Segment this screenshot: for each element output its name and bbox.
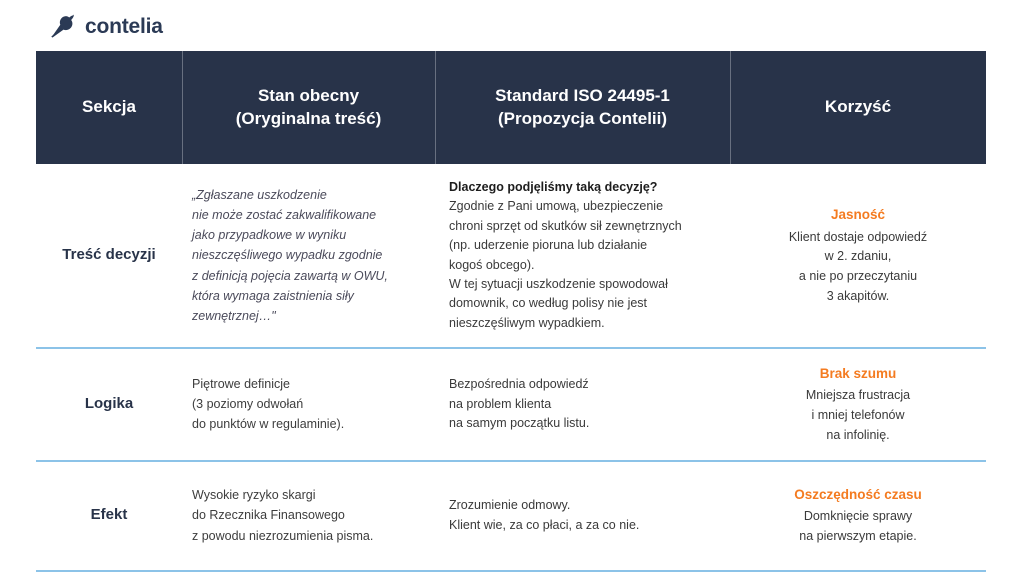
cell-current-state: Piętrowe definicje (3 poziomy odwołań do… <box>182 360 435 449</box>
cell-iso-heading: Dlaczego podjęliśmy taką decyzję? <box>449 178 716 197</box>
brand-logo: contelia <box>50 12 163 40</box>
cell-current-state: „Zgłaszane uszkodzenie nie może zostać z… <box>182 171 435 341</box>
cell-section: Logika <box>36 383 182 426</box>
cell-benefit: Brak szumu Mniejsza frustracja i mniej t… <box>730 349 986 460</box>
column-header-stan-obecny: Stan obecny (Oryginalna treść) <box>182 51 435 164</box>
cell-section: Efekt <box>36 494 182 537</box>
benefit-body: Klient dostaje odpowiedź w 2. zdaniu, a … <box>789 230 927 303</box>
column-header-sekcja: Sekcja <box>36 51 182 164</box>
cell-benefit: Jasność Klient dostaje odpowiedź w 2. zd… <box>730 190 986 320</box>
cell-iso-body: Zgodnie z Pani umową, ubezpieczenie chro… <box>449 199 682 329</box>
cell-section: Treść decyzji <box>36 234 182 277</box>
cell-iso-standard: Dlaczego podjęliśmy taką decyzję? Zgodni… <box>435 164 730 347</box>
comparison-table: Sekcja Stan obecny (Oryginalna treść) St… <box>36 51 986 572</box>
cell-benefit: Oszczędność czasu Domknięcie sprawy na p… <box>730 470 986 561</box>
page-root: contelia Sekcja Stan obecny (Oryginalna … <box>0 0 1024 576</box>
brand-name: contelia <box>85 16 163 37</box>
table-body: Treść decyzji „Zgłaszane uszkodzenie nie… <box>36 164 986 572</box>
cell-iso-standard: Bezpośrednia odpowiedź na problem klient… <box>435 361 730 447</box>
cell-iso-standard: Zrozumienie odmowy. Klient wie, za co pł… <box>435 482 730 549</box>
table-row: Efekt Wysokie ryzyko skargi do Rzecznika… <box>36 462 986 572</box>
column-header-standard-iso: Standard ISO 24495-1 (Propozycja Conteli… <box>435 51 730 164</box>
benefit-body: Mniejsza frustracja i mniej telefonów na… <box>806 388 910 442</box>
table-row: Logika Piętrowe definicje (3 poziomy odw… <box>36 349 986 462</box>
benefit-heading: Oszczędność czasu <box>744 484 972 505</box>
cell-current-state: Wysokie ryzyko skargi do Rzecznika Finan… <box>182 471 435 560</box>
benefit-heading: Brak szumu <box>744 363 972 384</box>
table-row: Treść decyzji „Zgłaszane uszkodzenie nie… <box>36 164 986 349</box>
table-header-row: Sekcja Stan obecny (Oryginalna treść) St… <box>36 51 986 164</box>
benefit-body: Domknięcie sprawy na pierwszym etapie. <box>799 509 916 543</box>
cell-iso-body: Zrozumienie odmowy. Klient wie, za co pł… <box>449 498 639 531</box>
cell-iso-body: Bezpośrednia odpowiedź na problem klient… <box>449 377 589 430</box>
bird-logo-icon <box>50 14 76 38</box>
benefit-heading: Jasność <box>744 204 972 225</box>
column-header-korzysc: Korzyść <box>730 51 986 164</box>
